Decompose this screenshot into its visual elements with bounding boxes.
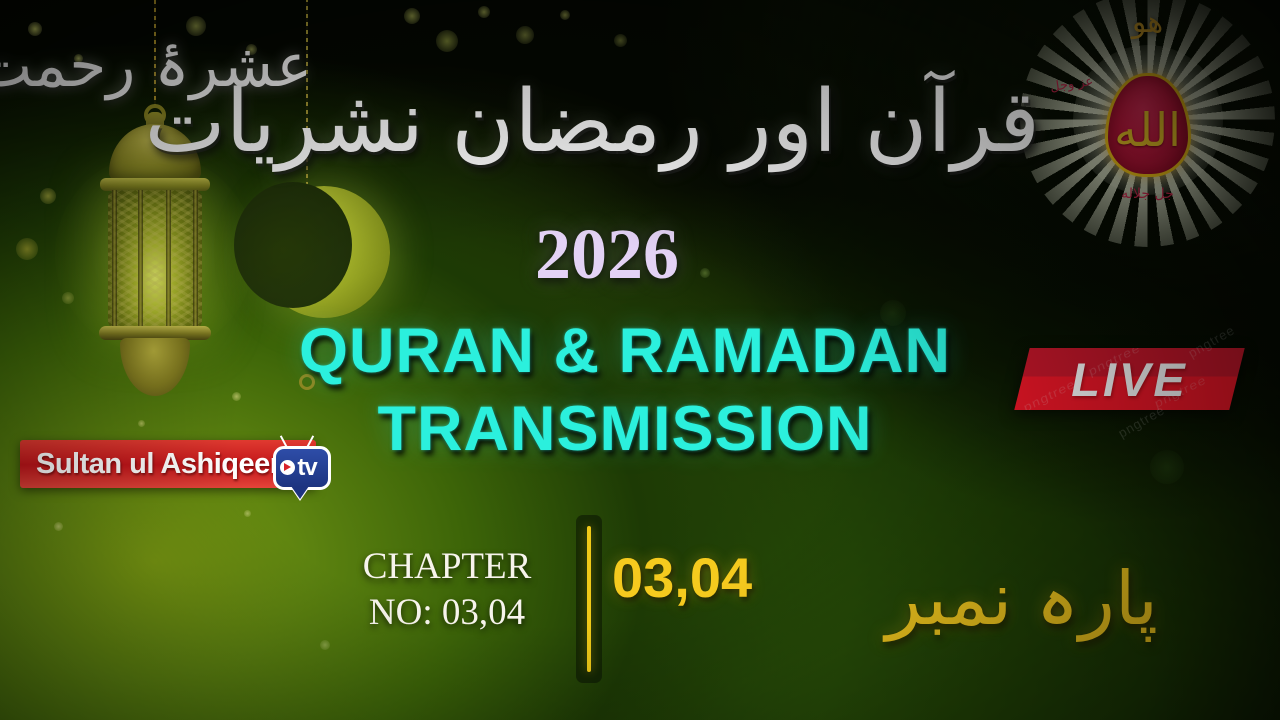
ramadan-transmission-banner: هو عز وجل الله جل جلاله عشرۂ رحمت قرآن ا… <box>0 0 1280 720</box>
background-vignette <box>0 0 1280 720</box>
